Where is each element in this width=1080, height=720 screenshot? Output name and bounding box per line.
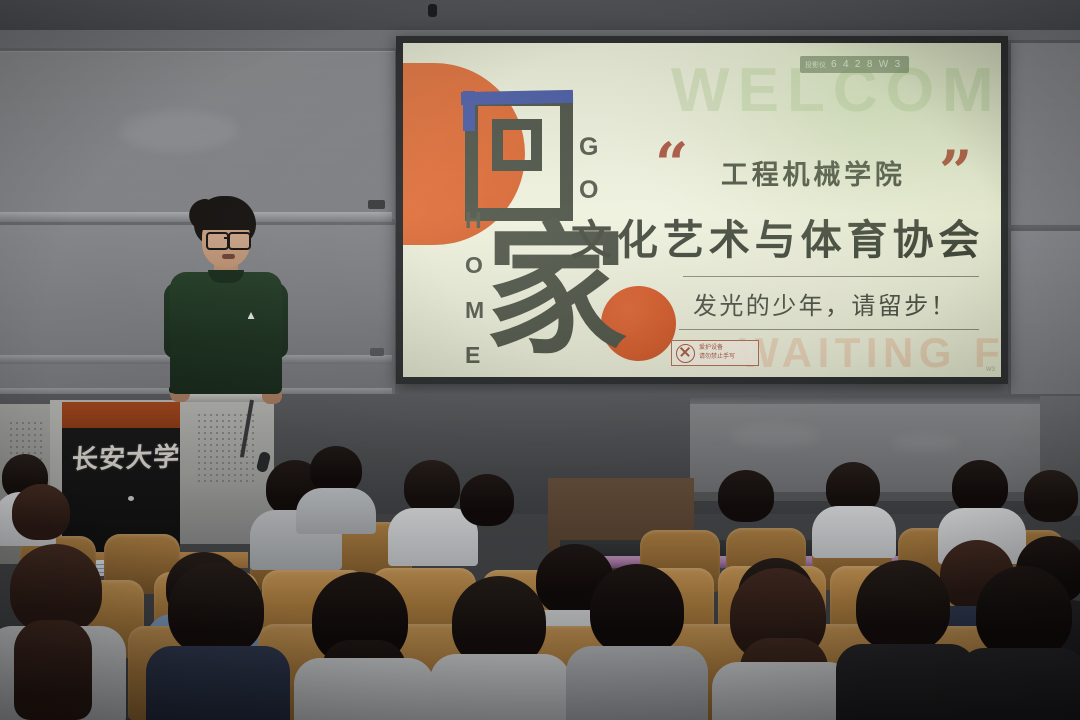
audience-head — [590, 564, 684, 656]
projection-screen-surface: WELCOME 家 G O H O M E — [403, 43, 1001, 377]
tshirt-logo-icon — [238, 312, 264, 326]
whiteboard-panel-upper-right — [1008, 40, 1080, 228]
audience-head — [976, 566, 1072, 660]
home-letter-o: O — [465, 254, 484, 277]
association-name-text: 文化艺术与体育协会 — [571, 206, 984, 266]
character-hui-return — [465, 93, 573, 221]
divider-line-top — [683, 276, 979, 277]
presenter-speaker — [152, 196, 302, 411]
osd-label-cn: 投影仪 — [805, 60, 826, 70]
audience-body — [958, 648, 1080, 720]
projection-screen-frame: WELCOME 家 G O H O M E — [396, 36, 1008, 384]
home-letter-h: H — [465, 209, 484, 232]
audience-head — [310, 446, 362, 494]
audience-body — [296, 488, 376, 534]
audience-body — [294, 658, 434, 720]
circle-x-icon — [676, 344, 695, 363]
warning-line-2: 请勿禁止手写 — [699, 353, 735, 362]
go-letter-o: O — [579, 178, 598, 203]
audience-head — [952, 460, 1008, 514]
ceiling-fixture-icon — [428, 4, 437, 17]
audience-head — [404, 460, 460, 514]
tagline-text: 发光的少年，请留步！ — [693, 286, 957, 321]
presenter-tshirt — [170, 272, 282, 394]
audience-body — [812, 506, 896, 558]
whiteboard-magnet-icon-2 — [370, 348, 384, 356]
quote-close-mark: ” — [939, 143, 972, 201]
glasses-bridge-icon — [224, 237, 230, 239]
warning-line-1: 爱护设备 — [699, 344, 735, 353]
lecture-hall-photo: WELCOME 家 G O H O M E — [0, 0, 1080, 720]
presenter-mouth — [222, 254, 235, 259]
equipment-warning-sticker: 爱护设备 请勿禁止手写 — [671, 340, 759, 366]
audience-body — [430, 654, 570, 720]
glasses-lens-left-icon — [206, 232, 229, 250]
go-letter-g: G — [579, 135, 598, 160]
whiteboard-smudge — [119, 111, 239, 151]
audience-head — [718, 470, 774, 522]
audience-head — [460, 474, 514, 526]
audience-body — [836, 644, 976, 720]
waiting-for-you-watermark: WAITING FOR YOU — [739, 329, 1001, 377]
audience-head — [856, 560, 950, 652]
whiteboard-panel-lower-right — [1008, 228, 1080, 402]
vertical-go-letters: G O — [579, 135, 598, 203]
whiteboard-magnet-icon — [368, 200, 385, 209]
home-letter-e: E — [465, 344, 484, 367]
glasses-lens-right-icon — [228, 232, 251, 250]
projector-osd-badge: 投影仪 6 4 2 8 W 3 — [800, 56, 909, 73]
vertical-home-letters: H O M E — [465, 209, 484, 367]
audience-head — [12, 484, 70, 540]
audience-body — [566, 646, 708, 720]
home-letter-m: M — [465, 299, 484, 322]
college-name-text: 工程机械学院 — [721, 153, 906, 192]
screen-corner-mark: W3 — [986, 367, 995, 373]
audience-body — [146, 646, 290, 720]
quote-open-mark: “ — [655, 135, 688, 193]
audience-body — [712, 662, 854, 720]
audience-head — [1024, 470, 1078, 522]
audience-seating-area — [0, 440, 1080, 720]
osd-code: 6 4 2 8 W 3 — [831, 59, 902, 70]
audience-long-hair — [14, 620, 92, 720]
audience-head — [168, 562, 264, 656]
